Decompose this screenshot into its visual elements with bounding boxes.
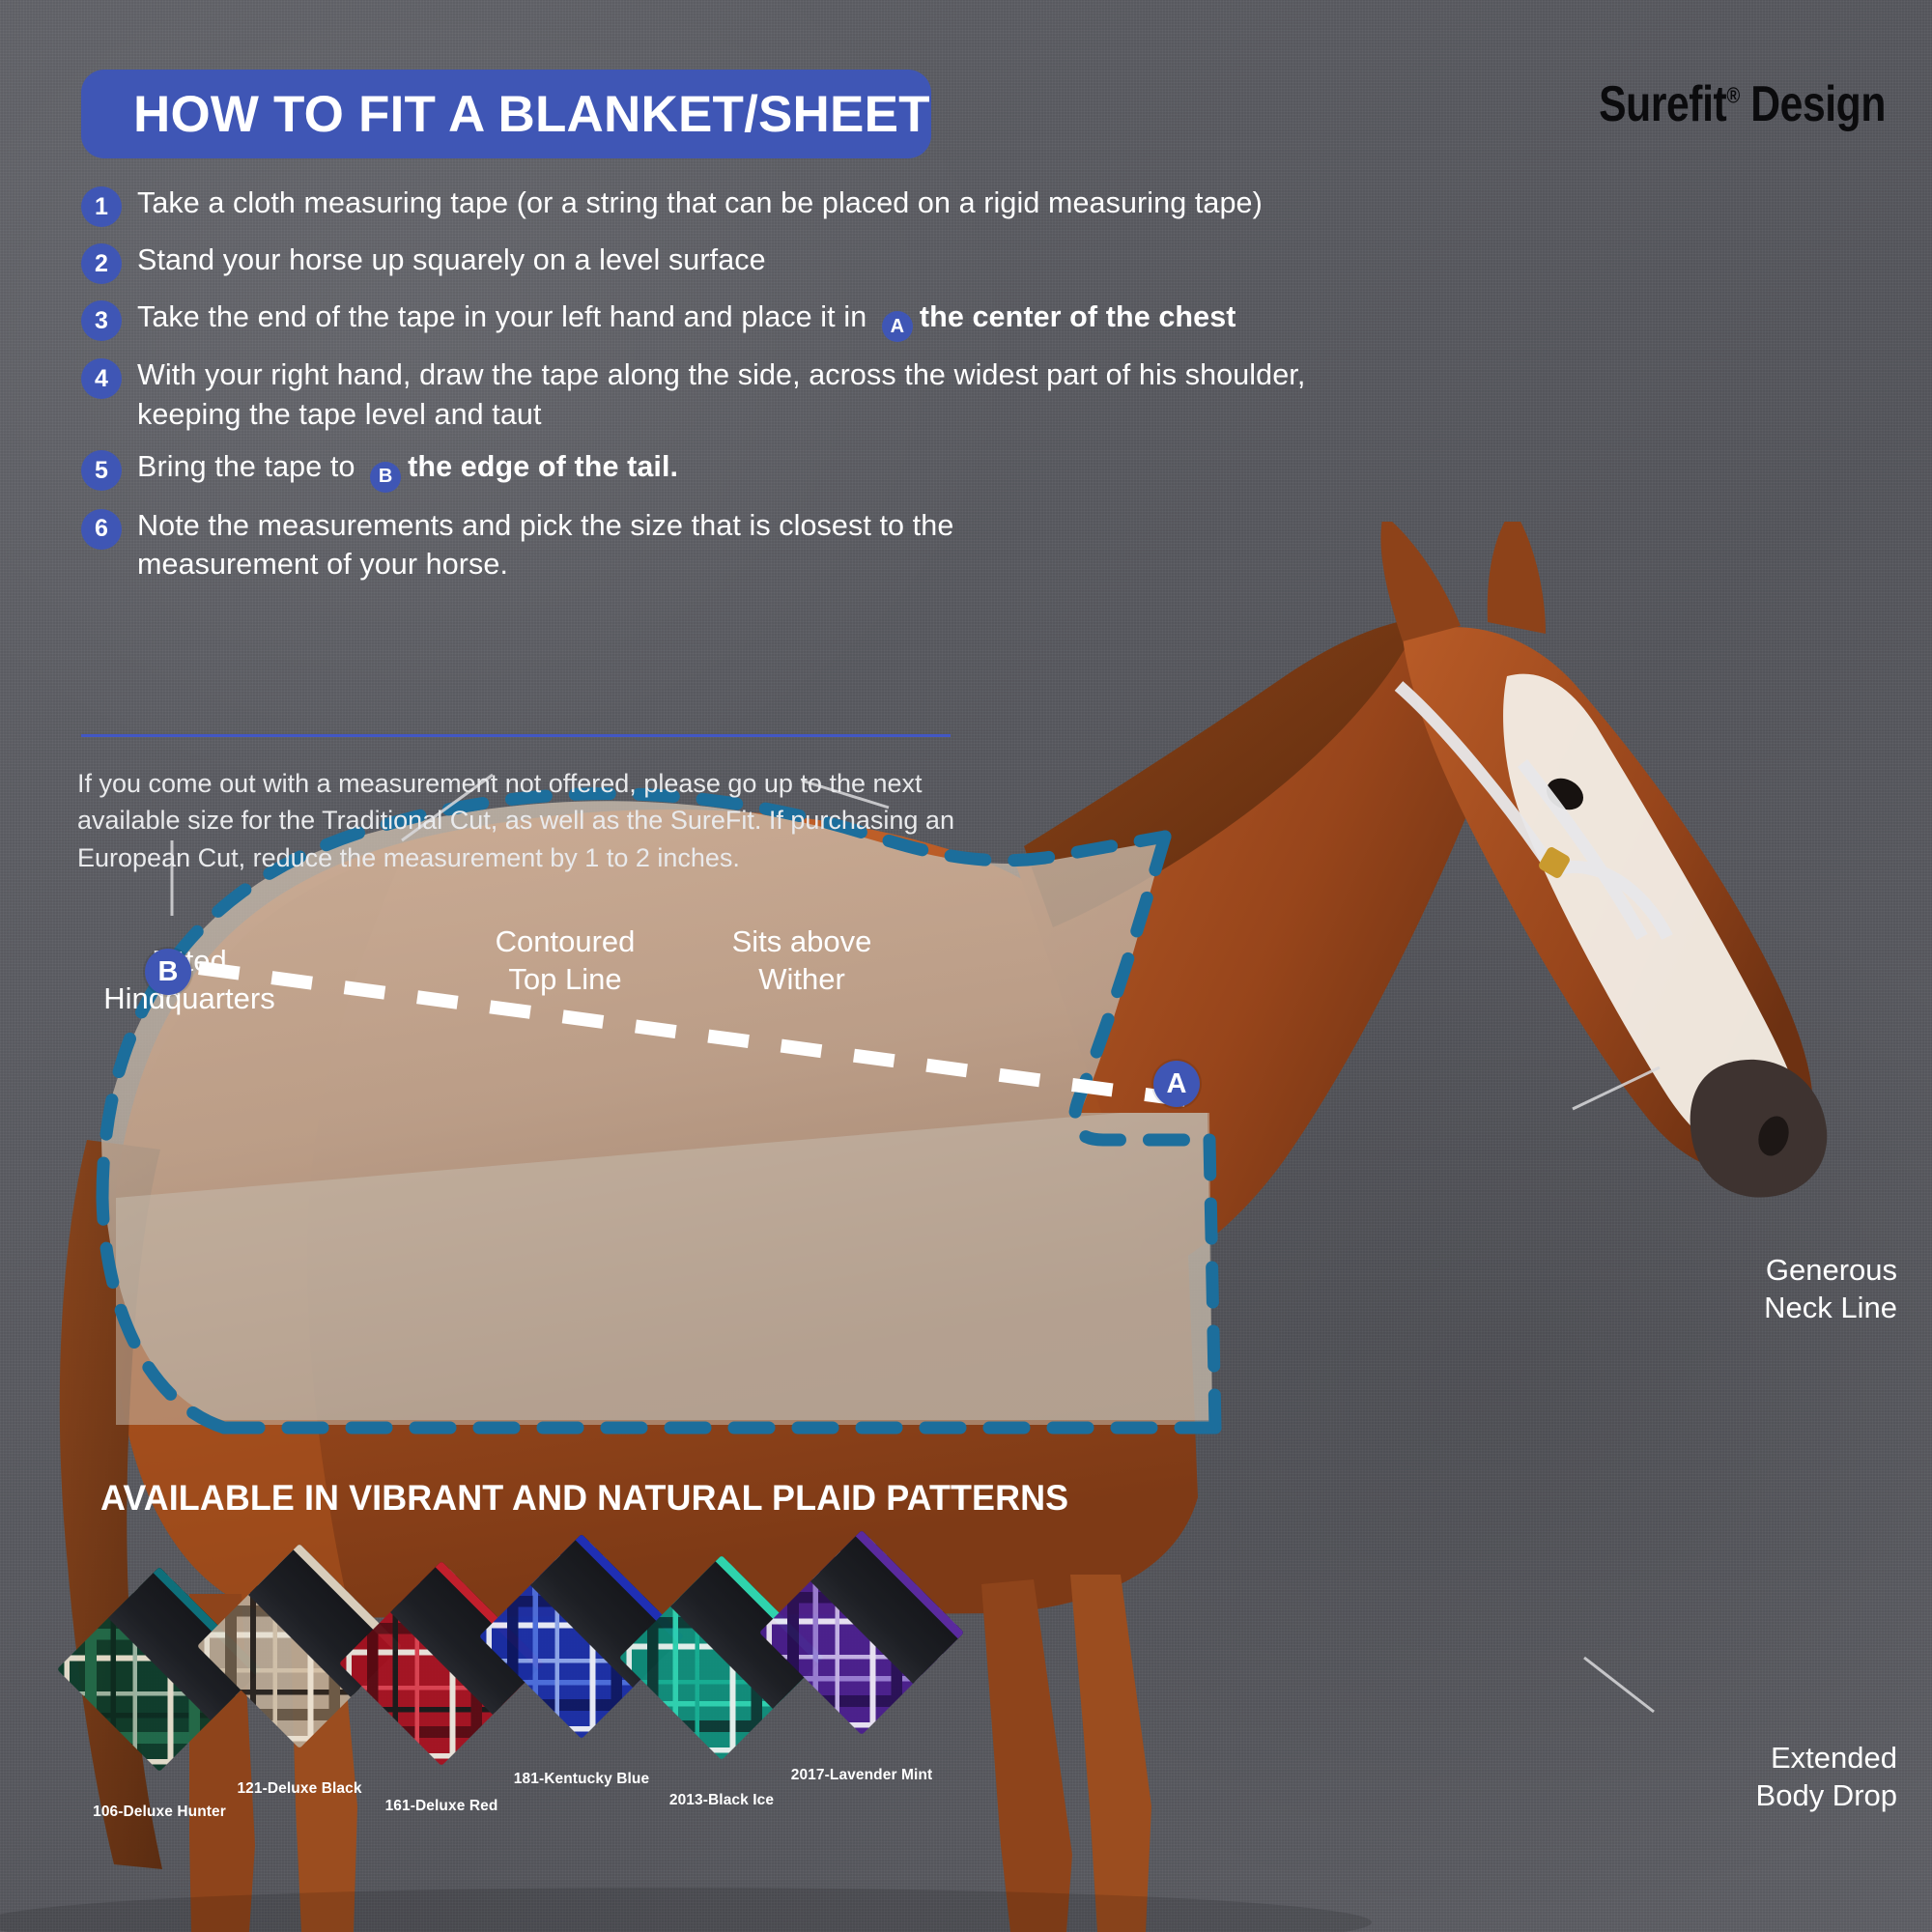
point-a-badge: A — [882, 311, 913, 342]
diagram-point-b: B — [145, 949, 191, 995]
plaid-swatch-label: 161-Deluxe Red — [369, 1798, 514, 1815]
step-item: 2 Stand your horse up squarely on a leve… — [81, 241, 1308, 284]
callout-generous-neck-line: Generous Neck Line — [1578, 1251, 1897, 1327]
plaid-swatch[interactable]: 121-Deluxe Black — [227, 1574, 372, 1798]
page-title-banner: HOW TO FIT A BLANKET/SHEET — [81, 70, 931, 158]
callout-line-1: Generous — [1578, 1251, 1897, 1289]
callout-extended-body-drop: Extended Body Drop — [1578, 1739, 1897, 1815]
step-text-emphasis: the center of the chest — [920, 300, 1236, 333]
callout-line-1: Contoured — [454, 923, 676, 960]
callout-sits-above-wither: Sits above Wither — [696, 923, 908, 999]
step-number-badge: 2 — [81, 243, 122, 284]
step-number-badge: 1 — [81, 186, 122, 227]
section-divider — [81, 734, 951, 737]
infographic-canvas: HOW TO FIT A BLANKET/SHEET Surefit® Desi… — [0, 0, 1932, 1932]
step-item: 3 Take the end of the tape in your left … — [81, 298, 1308, 342]
step-number-badge: 3 — [81, 300, 122, 341]
callout-line-2: Wither — [696, 960, 908, 998]
step-item: 4 With your right hand, draw the tape al… — [81, 355, 1308, 434]
plaid-swatch[interactable]: 181-Kentucky Blue — [509, 1564, 654, 1788]
plaid-swatch-label: 2013-Black Ice — [649, 1792, 794, 1809]
plaid-swatch-label: 2017-Lavender Mint — [789, 1767, 934, 1784]
step-item: 6 Note the measurements and pick the siz… — [81, 506, 1308, 584]
step-item: 5 Bring the tape to Bthe edge of the tai… — [81, 447, 1308, 492]
callout-line-2: Body Drop — [1578, 1776, 1897, 1814]
step-text-lead: Take the end of the tape in your left ha… — [137, 300, 875, 333]
step-number-badge: 4 — [81, 358, 122, 399]
registered-mark-icon: ® — [1726, 83, 1739, 108]
step-text: Stand your horse up squarely on a level … — [137, 241, 766, 280]
callout-line-1: Sits above — [696, 923, 908, 960]
callout-line-2: Top Line — [454, 960, 676, 998]
step-text: With your right hand, draw the tape alon… — [137, 355, 1308, 434]
plaid-swatch[interactable]: 106-Deluxe Hunter — [87, 1597, 232, 1821]
instruction-steps: 1 Take a cloth measuring tape (or a stri… — [81, 184, 1308, 598]
step-text: Take the end of the tape in your left ha… — [137, 298, 1236, 342]
plaid-swatch-row: 106-Deluxe Hunter 121-Deluxe Black 161-D… — [77, 1541, 966, 1869]
blanket-overlay — [101, 801, 1212, 1425]
page-title: HOW TO FIT A BLANKET/SHEET — [81, 85, 930, 144]
point-b-badge: B — [370, 462, 401, 493]
callout-line-2: Neck Line — [1578, 1289, 1897, 1326]
sizing-note: If you come out with a measurement not o… — [77, 765, 966, 876]
step-text: Take a cloth measuring tape (or a string… — [137, 184, 1263, 223]
plaid-swatch-label: 106-Deluxe Hunter — [87, 1804, 232, 1821]
brand-name: Surefit — [1599, 76, 1726, 132]
step-text-emphasis: the edge of the tail. — [408, 450, 678, 483]
plaid-swatch-label: 121-Deluxe Black — [227, 1780, 372, 1798]
step-number-badge: 6 — [81, 509, 122, 550]
step-text: Bring the tape to Bthe edge of the tail. — [137, 447, 678, 492]
brand-suffix: Design — [1740, 76, 1886, 132]
step-number-badge: 5 — [81, 450, 122, 491]
brand-logo: Surefit® Design — [1599, 75, 1886, 133]
plaid-section-heading: AVAILABLE IN VIBRANT AND NATURAL PLAID P… — [100, 1478, 1068, 1519]
plaid-swatch-diamond[interactable] — [759, 1530, 964, 1735]
diagram-point-a: A — [1153, 1061, 1200, 1107]
step-text-lead: Bring the tape to — [137, 450, 363, 483]
step-text: Note the measurements and pick the size … — [137, 506, 1142, 584]
step-item: 1 Take a cloth measuring tape (or a stri… — [81, 184, 1308, 227]
callout-contoured-top-line: Contoured Top Line — [454, 923, 676, 999]
callout-line-1: Extended — [1578, 1739, 1897, 1776]
callout-line-2: Hindquarters — [83, 980, 296, 1017]
plaid-swatch[interactable]: 2017-Lavender Mint — [789, 1560, 934, 1784]
plaid-swatch-label: 181-Kentucky Blue — [509, 1771, 654, 1788]
